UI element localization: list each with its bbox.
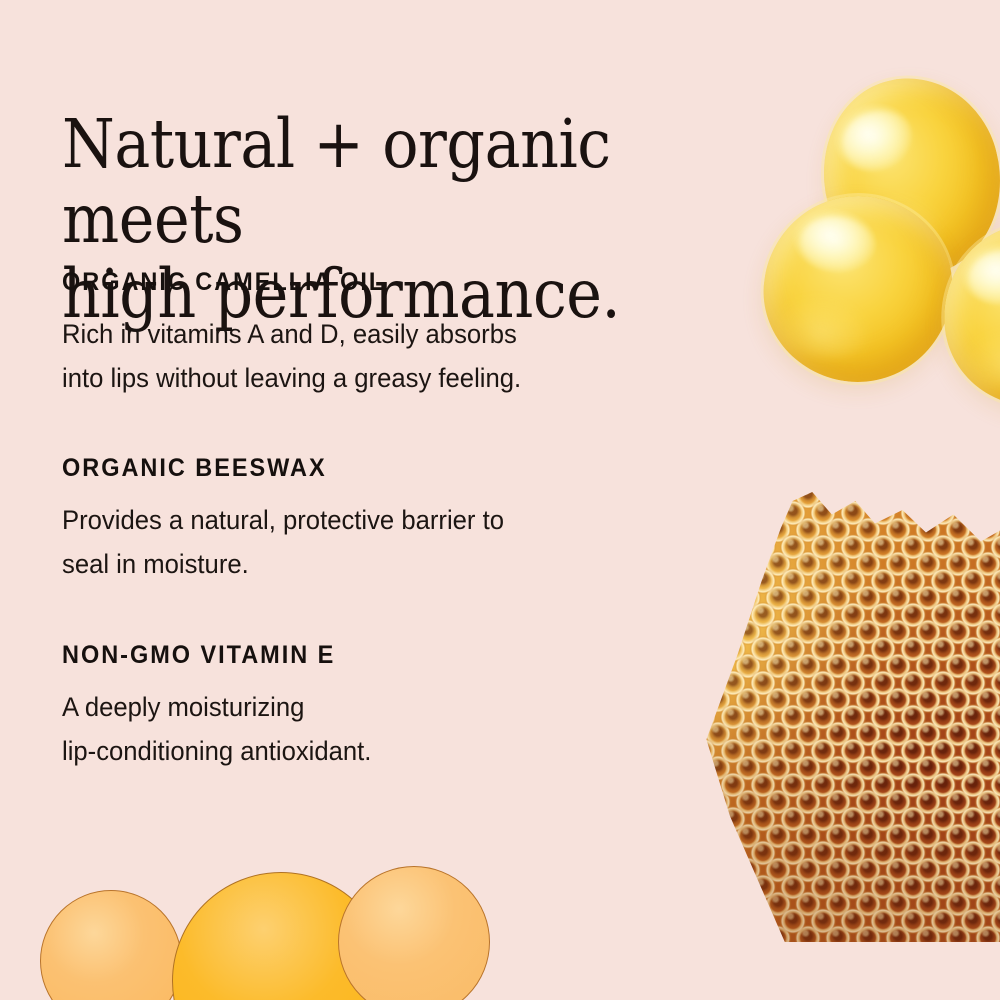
feature-item-vitamin-e: NON-GMO VITAMIN E A deeply moisturizing … (62, 641, 752, 773)
feature-title: NON-GMO VITAMIN E (62, 641, 711, 670)
feature-title: ORGANIC CAMELLIA OIL (62, 268, 711, 297)
feature-list: ORGANIC CAMELLIA OIL Rich in vitamins A … (62, 268, 752, 773)
feature-item-camellia-oil: ORGANIC CAMELLIA OIL Rich in vitamins A … (62, 268, 752, 400)
feature-description: Provides a natural, protective barrier t… (62, 499, 718, 586)
content-layer: Natural + organic meets high performance… (0, 0, 1000, 1000)
feature-description: A deeply moisturizing lip-conditioning a… (62, 686, 718, 773)
feature-description: Rich in vitamins A and D, easily absorbs… (62, 313, 718, 400)
feature-title: ORGANIC BEESWAX (62, 454, 711, 483)
feature-item-beeswax: ORGANIC BEESWAX Provides a natural, prot… (62, 454, 752, 586)
promo-canvas: Natural + organic meets high performance… (0, 0, 1000, 1000)
